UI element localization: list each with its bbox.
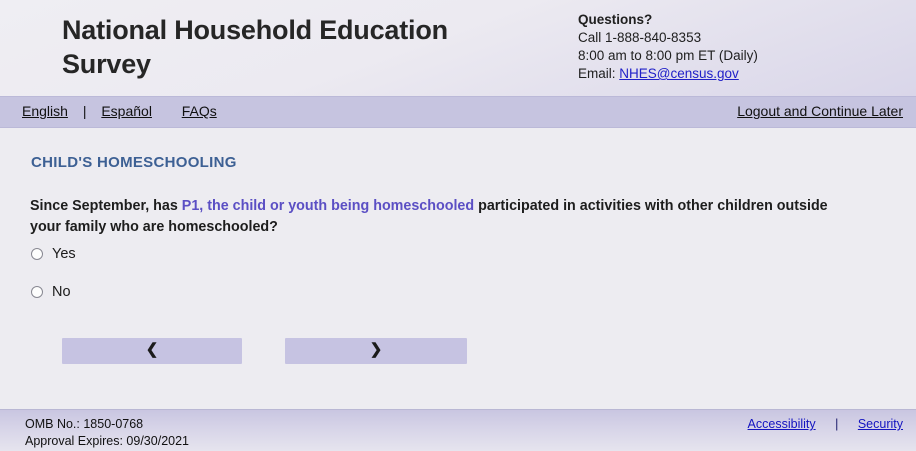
navbar-left-links: English | Español FAQs: [22, 103, 217, 119]
question-fill-text: P1, the child or youth being homeschoole…: [182, 198, 474, 214]
accessibility-link[interactable]: Accessibility: [748, 417, 816, 431]
hours-line: 8:00 am to 8:00 pm ET (Daily): [578, 47, 758, 65]
omb-expiration: Approval Expires: 09/30/2021: [25, 433, 189, 450]
page-header: National Household Education Survey Ques…: [0, 0, 916, 96]
navbar-right-links: Logout and Continue Later: [737, 103, 903, 119]
chevron-left-icon: ❮: [146, 341, 159, 358]
omb-block: OMB No.: 1850-0768 Approval Expires: 09/…: [25, 416, 189, 450]
footer-links: Accessibility | Security: [748, 417, 903, 431]
utility-navbar: English | Español FAQs Logout and Contin…: [0, 96, 916, 128]
omb-number: OMB No.: 1850-0768: [25, 416, 189, 433]
form-navigation-buttons: ❮ ❯: [0, 338, 916, 366]
option-label-yes: Yes: [52, 246, 76, 262]
radio-no[interactable]: [31, 286, 43, 298]
option-row-yes[interactable]: Yes: [31, 244, 76, 264]
security-link[interactable]: Security: [858, 417, 903, 431]
next-button[interactable]: ❯: [285, 338, 467, 364]
contact-block: Questions? Call 1-888-840-8353 8:00 am t…: [578, 11, 758, 83]
nav-link-faqs[interactable]: FAQs: [182, 103, 217, 119]
nav-link-espanol[interactable]: Español: [101, 103, 152, 119]
survey-page: National Household Education Survey Ques…: [0, 0, 916, 451]
email-label: Email:: [578, 66, 616, 81]
option-row-no[interactable]: No: [31, 282, 76, 302]
question-text: Since September, has P1, the child or yo…: [30, 196, 830, 238]
questions-label: Questions?: [578, 11, 758, 29]
footer-separator: |: [819, 417, 854, 431]
main-content: CHILD'S HOMESCHOOLING Since September, h…: [0, 128, 916, 409]
answer-options: Yes No: [31, 244, 76, 320]
page-footer: OMB No.: 1850-0768 Approval Expires: 09/…: [0, 409, 916, 451]
email-link[interactable]: NHES@census.gov: [619, 66, 739, 81]
question-part-1: Since September, has: [30, 198, 182, 214]
chevron-right-icon: ❯: [370, 341, 383, 358]
radio-yes[interactable]: [31, 248, 43, 260]
site-title: National Household Education Survey: [62, 13, 532, 81]
phone-line: Call 1-888-840-8353: [578, 29, 758, 47]
email-line: Email: NHES@census.gov: [578, 65, 758, 83]
section-title: CHILD'S HOMESCHOOLING: [31, 154, 237, 171]
back-button[interactable]: ❮: [62, 338, 242, 364]
nav-link-english[interactable]: English: [22, 103, 68, 119]
option-label-no: No: [52, 284, 71, 300]
nav-separator: |: [72, 103, 98, 119]
logout-continue-later-link[interactable]: Logout and Continue Later: [737, 103, 903, 119]
